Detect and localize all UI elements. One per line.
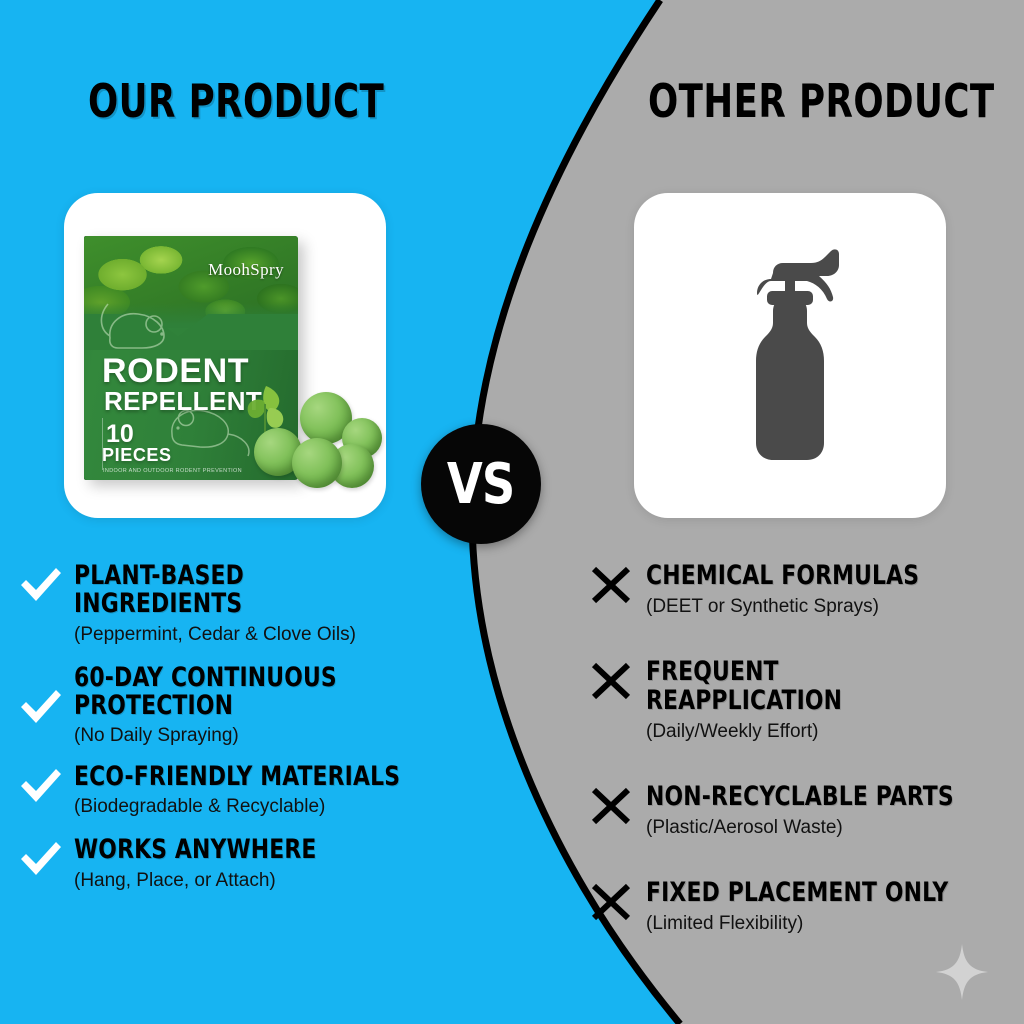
feature-title: NON-RECYCLABLE PARTS bbox=[646, 783, 981, 811]
right-header: OTHER PRODUCT bbox=[648, 74, 995, 128]
cross-icon bbox=[588, 883, 634, 923]
feature-item: 60-DAY CONTINUOUS PROTECTION (No Daily S… bbox=[18, 664, 448, 748]
feature-subtitle: (Hang, Place, or Attach) bbox=[74, 870, 448, 892]
vs-badge: VS bbox=[421, 424, 541, 544]
feature-item: ECO-FRIENDLY MATERIALS (Biodegradable & … bbox=[18, 763, 448, 818]
cross-icon bbox=[588, 662, 634, 702]
comparison-infographic: OUR PRODUCT OTHER PRODUCT MoohSpry RODEN… bbox=[0, 0, 1024, 1024]
check-icon bbox=[18, 840, 64, 880]
product-box-tagline: INDOOR AND OUTDOOR RODENT PREVENTION bbox=[103, 468, 242, 474]
feature-item: PLANT-BASED INGREDIENTS (Peppermint, Ced… bbox=[18, 562, 448, 646]
spray-bottle-icon bbox=[715, 231, 865, 481]
cross-icon bbox=[588, 566, 634, 606]
brand-logo: MoohSpry bbox=[208, 260, 284, 280]
repellent-balls-image bbox=[254, 392, 382, 496]
left-header: OUR PRODUCT bbox=[88, 74, 384, 128]
feature-item: WORKS ANYWHERE (Hang, Place, or Attach) bbox=[18, 836, 448, 891]
feature-item: FREQUENT REAPPLICATION (Daily/Weekly Eff… bbox=[588, 658, 1018, 743]
feature-subtitle: (DEET or Synthetic Sprays) bbox=[646, 596, 1018, 618]
vs-label: VS bbox=[447, 452, 514, 517]
feature-item: FIXED PLACEMENT ONLY (Limited Flexibilit… bbox=[588, 879, 1018, 935]
feature-title: PLANT-BASED INGREDIENTS bbox=[74, 562, 411, 619]
product-box-count-unit: PIECES bbox=[102, 446, 172, 464]
feature-subtitle: (Peppermint, Cedar & Clove Oils) bbox=[74, 624, 448, 646]
check-icon bbox=[18, 566, 64, 606]
feature-title: FREQUENT REAPPLICATION bbox=[646, 658, 981, 715]
other-product-card bbox=[634, 193, 946, 518]
feature-title: FIXED PLACEMENT ONLY bbox=[646, 879, 981, 907]
feature-subtitle: (Limited Flexibility) bbox=[646, 913, 1018, 935]
feature-item: CHEMICAL FORMULAS (DEET or Synthetic Spr… bbox=[588, 562, 1018, 618]
check-icon bbox=[18, 767, 64, 807]
product-box-count: 10 bbox=[106, 422, 134, 447]
mouse-line-art-icon bbox=[92, 294, 188, 356]
feature-subtitle: (Plastic/Aerosol Waste) bbox=[646, 817, 1018, 839]
feature-subtitle: (No Daily Spraying) bbox=[74, 725, 448, 747]
other-product-feature-list: CHEMICAL FORMULAS (DEET or Synthetic Spr… bbox=[588, 562, 1018, 953]
feature-item: NON-RECYCLABLE PARTS (Plastic/Aerosol Wa… bbox=[588, 783, 1018, 839]
product-box-title: RODENT bbox=[102, 354, 249, 388]
feature-title: CHEMICAL FORMULAS bbox=[646, 562, 981, 590]
feature-title: 60-DAY CONTINUOUS PROTECTION bbox=[74, 664, 353, 721]
our-product-feature-list: PLANT-BASED INGREDIENTS (Peppermint, Ced… bbox=[18, 562, 448, 909]
feature-subtitle: (Daily/Weekly Effort) bbox=[646, 721, 1018, 743]
cross-icon bbox=[588, 787, 634, 827]
feature-subtitle: (Biodegradable & Recyclable) bbox=[74, 796, 448, 818]
feature-title: WORKS ANYWHERE bbox=[74, 836, 411, 864]
feature-title: ECO-FRIENDLY MATERIALS bbox=[74, 763, 411, 791]
ball bbox=[292, 438, 342, 488]
sparkle-icon bbox=[936, 944, 988, 1000]
check-icon bbox=[18, 688, 64, 728]
